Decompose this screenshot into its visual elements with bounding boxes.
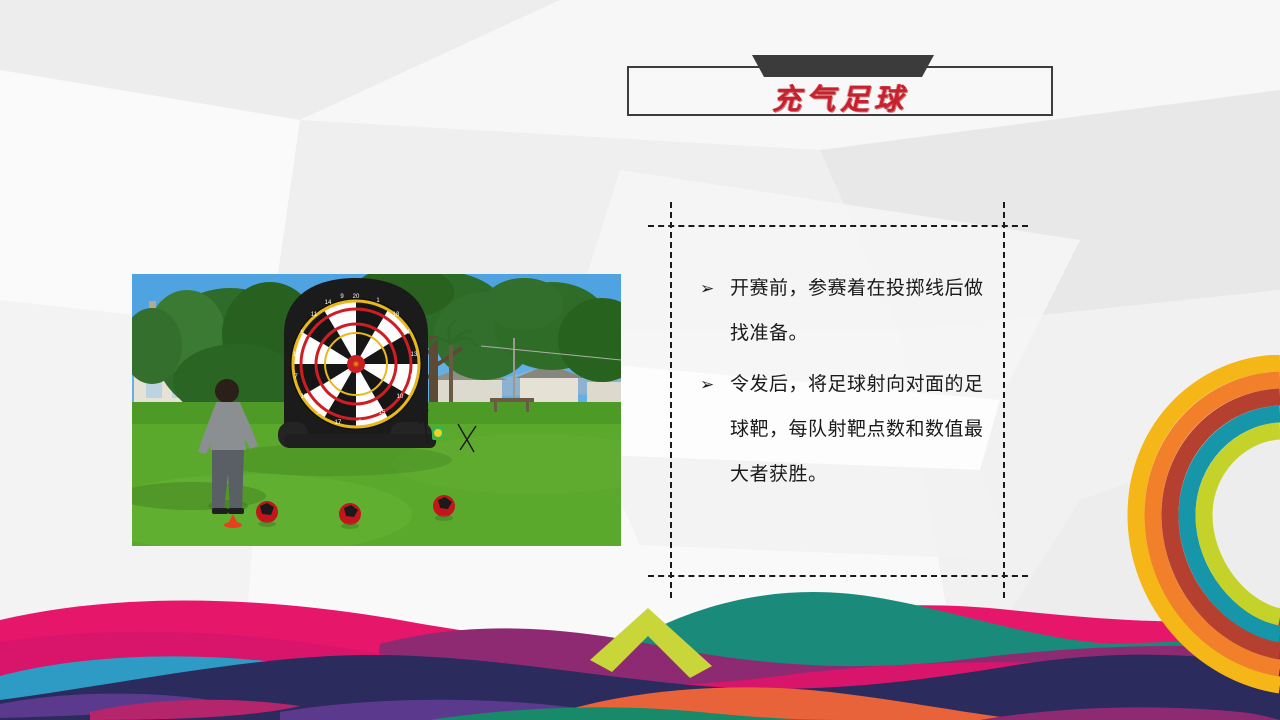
list-item: ➢ 开赛前，参赛着在投掷线后做找准备。 bbox=[700, 266, 1000, 356]
arrow-bullet-icon: ➢ bbox=[700, 266, 730, 311]
svg-text:11: 11 bbox=[311, 312, 318, 318]
list-item-text: 令发后，将足球射向对面的足球靶，每队射靶点数和数值最大者获胜。 bbox=[730, 362, 1000, 497]
bullet-list: ➢ 开赛前，参赛着在投掷线后做找准备。 ➢ 令发后，将足球射向对面的足球靶，每队… bbox=[700, 266, 1000, 503]
bottom-wave-decoration bbox=[0, 580, 1280, 720]
arrow-bullet-icon: ➢ bbox=[700, 362, 730, 407]
svg-text:10: 10 bbox=[397, 394, 404, 400]
svg-text:15: 15 bbox=[379, 410, 386, 416]
hexagon-banner-icon bbox=[752, 55, 934, 77]
svg-text:17: 17 bbox=[335, 420, 342, 426]
inflatable-soccer-dartboard-photo: 201 184 136 1015 217 319 716 811 149 bbox=[132, 274, 621, 546]
svg-text:14: 14 bbox=[325, 300, 332, 306]
slide-title-block: 充气足球 bbox=[627, 66, 1053, 116]
svg-text:13: 13 bbox=[411, 352, 418, 358]
list-item-text: 开赛前，参赛着在投掷线后做找准备。 bbox=[730, 266, 1000, 356]
slide-root: 充气足球 bbox=[0, 0, 1280, 720]
list-item: ➢ 令发后，将足球射向对面的足球靶，每队射靶点数和数值最大者获胜。 bbox=[700, 362, 1000, 497]
svg-text:20: 20 bbox=[353, 294, 360, 300]
svg-text:16: 16 bbox=[293, 352, 300, 358]
page-title: 充气足球 bbox=[627, 76, 1053, 118]
svg-text:18: 18 bbox=[393, 312, 400, 318]
svg-text:19: 19 bbox=[301, 394, 308, 400]
